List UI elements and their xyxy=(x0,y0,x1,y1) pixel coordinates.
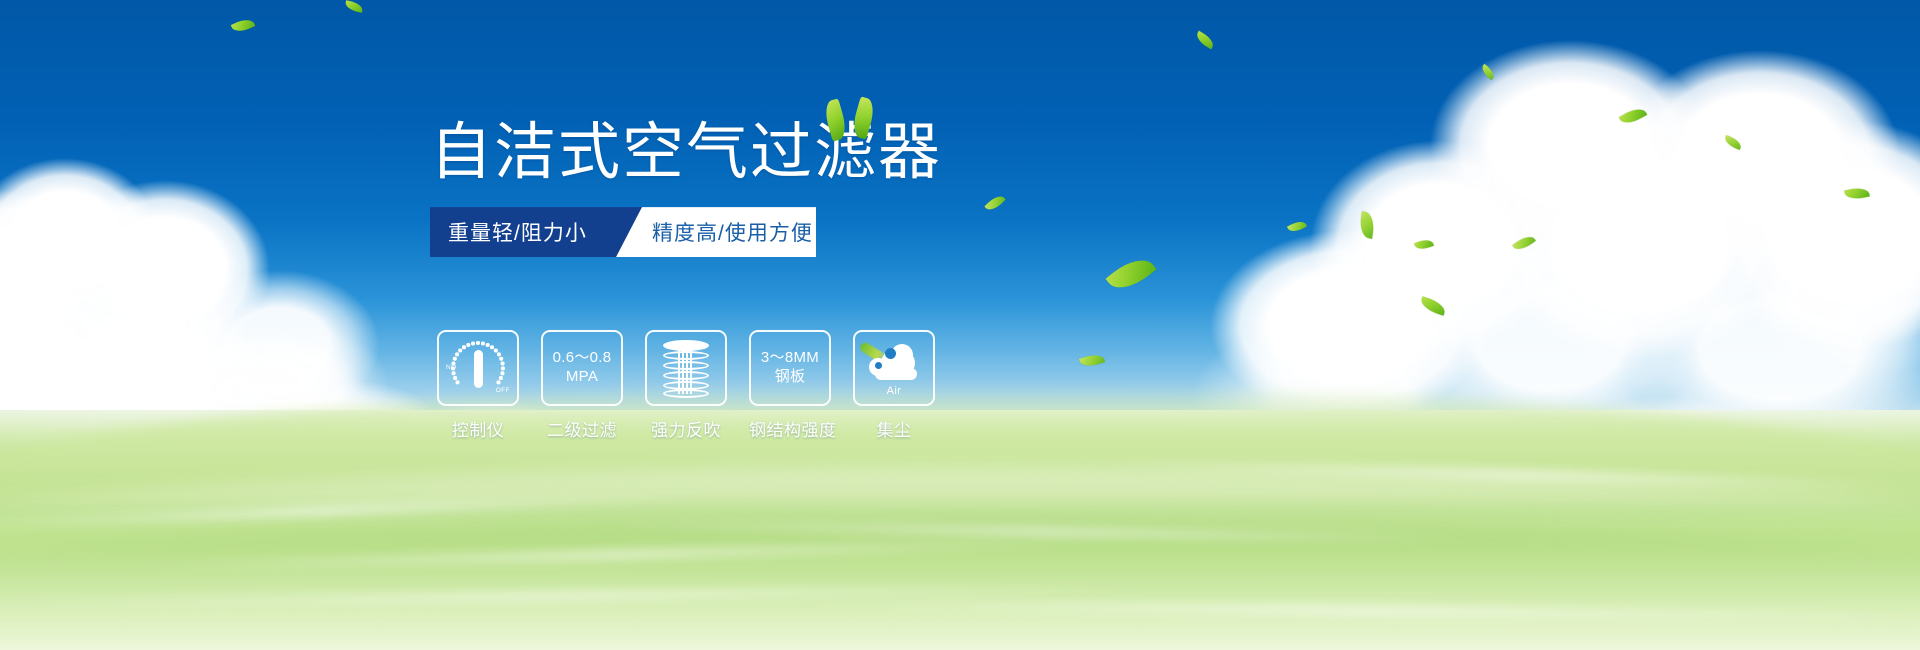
dial-off-label: OFF xyxy=(496,387,510,394)
dial-tick-dot xyxy=(499,376,502,379)
tab-precision-convenience[interactable]: 精度高/使用方便 xyxy=(616,207,816,257)
feature-icon-box: 0.6～0.8 MPA xyxy=(541,330,623,406)
feature-label: 强力反吹 xyxy=(645,416,727,441)
dial-tick-dot xyxy=(490,346,493,349)
dial-tick-dot xyxy=(456,381,459,384)
feature-label: 钢结构强度 xyxy=(749,416,831,441)
feature-icon-box: NO OFF xyxy=(437,330,519,406)
air-icon-label: Air xyxy=(863,385,925,397)
dial-tick-dot xyxy=(453,376,456,379)
dial-tick-dot xyxy=(476,341,479,344)
dial-tick-dot xyxy=(455,353,458,356)
floating-leaf xyxy=(1105,250,1156,297)
dial-tick-dot xyxy=(494,349,497,352)
dial-tick-dot xyxy=(453,357,456,360)
dial-needle xyxy=(474,350,483,388)
steel-plate-text-icon: 3～8MM 钢板 xyxy=(761,349,819,387)
feature-icon-box: Air xyxy=(853,330,935,406)
feature-label: 集尘 xyxy=(853,416,935,441)
feature-list: NO OFF 控制仪 0.6～0.8 MPA 二级过滤 xyxy=(437,330,935,441)
filter-cartridge-icon xyxy=(661,340,711,396)
dial-tick-dot xyxy=(497,381,500,384)
grass-field xyxy=(0,410,1920,650)
dial-tick-dot xyxy=(500,357,503,360)
floating-leaf xyxy=(344,0,363,13)
dial-tick-dot xyxy=(452,372,455,375)
tab-weight-resistance[interactable]: 重量轻/阻力小 xyxy=(430,207,645,257)
dial-tick-dot xyxy=(501,362,504,365)
subtitle-tabs: 重量轻/阻力小 精度高/使用方便 xyxy=(430,207,815,257)
page-title: 自洁式空气过滤器 xyxy=(430,120,1070,185)
feature-item-dust[interactable]: Air 集尘 xyxy=(853,330,935,441)
dial-tick-dot xyxy=(471,342,474,345)
sprout-leaves-icon xyxy=(825,96,885,140)
dial-tick-dot xyxy=(497,353,500,356)
banner-stage: 自洁式空气过滤器 重量轻/阻力小 精度高/使用方便 NO OFF 控制仪 xyxy=(0,0,1920,650)
dial-tick-dot xyxy=(501,367,504,370)
feature-icon-box: 3～8MM 钢板 xyxy=(749,330,831,406)
pressure-text-icon: 0.6～0.8 MPA xyxy=(553,349,612,387)
feature-item-blowback[interactable]: 强力反吹 xyxy=(645,330,727,441)
feature-item-control[interactable]: NO OFF 控制仪 xyxy=(437,330,519,441)
dial-tick-dot xyxy=(467,343,470,346)
dial-tick-dot xyxy=(486,343,489,346)
feature-icon-box xyxy=(645,330,727,406)
dial-tick-dot xyxy=(462,346,465,349)
headline-block: 自洁式空气过滤器 重量轻/阻力小 精度高/使用方便 xyxy=(430,120,1070,257)
air-cloud-icon: Air xyxy=(863,342,925,394)
dial-tick-dot xyxy=(481,342,484,345)
feature-item-steel[interactable]: 3～8MM 钢板 钢结构强度 xyxy=(749,330,831,441)
dial-tick-dot xyxy=(458,349,461,352)
dial-tick-dot xyxy=(501,372,504,375)
feature-label: 二级过滤 xyxy=(541,416,623,441)
floating-leaf xyxy=(231,16,256,35)
control-dial-icon: NO OFF xyxy=(447,340,509,396)
floating-leaf xyxy=(1079,352,1105,370)
feature-item-pressure[interactable]: 0.6～0.8 MPA 二级过滤 xyxy=(541,330,623,441)
feature-label: 控制仪 xyxy=(437,416,519,441)
